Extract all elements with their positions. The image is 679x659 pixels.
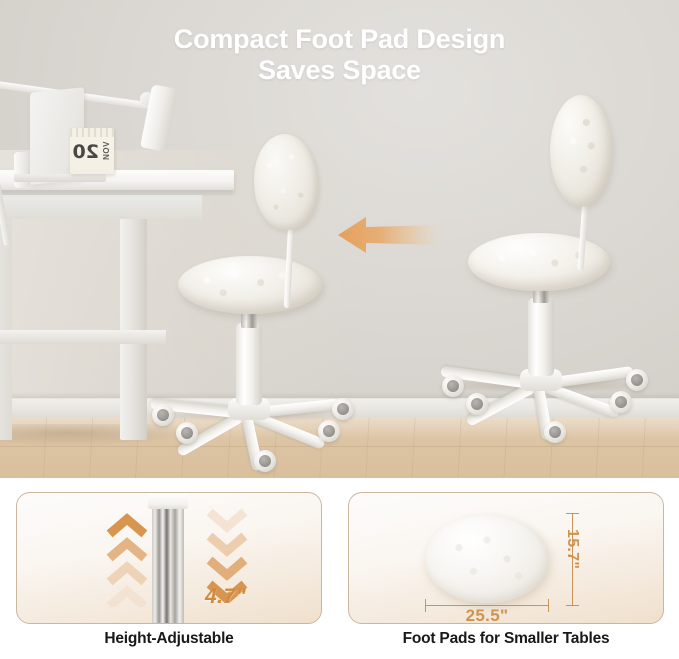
caster-wheel xyxy=(442,375,464,397)
caster-wheel xyxy=(254,450,276,472)
desk-leg-right xyxy=(120,190,147,440)
caster-wheel xyxy=(332,398,354,420)
page-title: Compact Foot Pad Design Saves Space xyxy=(0,24,679,87)
boucle-texture xyxy=(555,100,607,202)
panel-foot-pads: 25.5" 15.7" xyxy=(348,492,664,624)
oval-foot-pad-graphic xyxy=(425,515,549,603)
laptop-base xyxy=(14,174,106,182)
caster-wheel xyxy=(626,369,648,391)
chair-seat xyxy=(178,256,322,314)
caster-wheel xyxy=(610,391,632,413)
chair-backrest xyxy=(550,95,612,207)
desk-calendar: 20 NOV xyxy=(70,128,114,174)
caster-wheel xyxy=(466,393,488,415)
calendar-rings xyxy=(70,128,114,137)
height-dimension-label: 15.7" xyxy=(563,529,581,569)
caster-wheel xyxy=(318,420,340,442)
caster-wheel xyxy=(176,422,198,444)
chair-right-profile xyxy=(430,95,650,455)
caster-wheel xyxy=(544,421,566,443)
title-line-2: Saves Space xyxy=(0,55,679,86)
foot-pad-texture xyxy=(431,521,543,597)
panel-height-adjustable: 4.7" xyxy=(16,492,322,624)
cylinder-cap xyxy=(148,493,188,509)
height-dimension-cap-top xyxy=(566,513,579,514)
width-dimension-label: 25.5" xyxy=(425,606,549,624)
boucle-texture xyxy=(183,261,317,309)
calendar-day: 20 xyxy=(73,141,99,163)
gas-lift-column xyxy=(528,298,554,376)
chevron-up-icon xyxy=(105,511,149,612)
boucle-texture xyxy=(256,137,317,228)
calendar-month: NOV xyxy=(102,141,111,160)
panel-label-foot-pads: Foot Pads for Smaller Tables xyxy=(348,630,664,648)
desk-stretcher xyxy=(0,330,166,344)
chair-seat xyxy=(468,233,610,291)
gas-lift-column xyxy=(236,323,262,405)
chrome-cylinder-body xyxy=(152,507,184,624)
height-dimension-cap-bottom xyxy=(566,605,579,606)
chair-backrest xyxy=(252,132,321,231)
left-arrow-icon xyxy=(336,212,440,258)
height-dimension-label: 4.7" xyxy=(205,585,246,609)
lamp-base xyxy=(14,152,30,188)
panel-label-height-adjustable: Height-Adjustable xyxy=(16,630,322,648)
chair-front-left xyxy=(150,120,350,450)
caster-wheel xyxy=(152,404,174,426)
hero-product-photo: 20 NOV xyxy=(0,0,679,478)
gas-lift-cylinder-graphic xyxy=(148,493,188,624)
title-line-1: Compact Foot Pad Design xyxy=(0,24,679,55)
